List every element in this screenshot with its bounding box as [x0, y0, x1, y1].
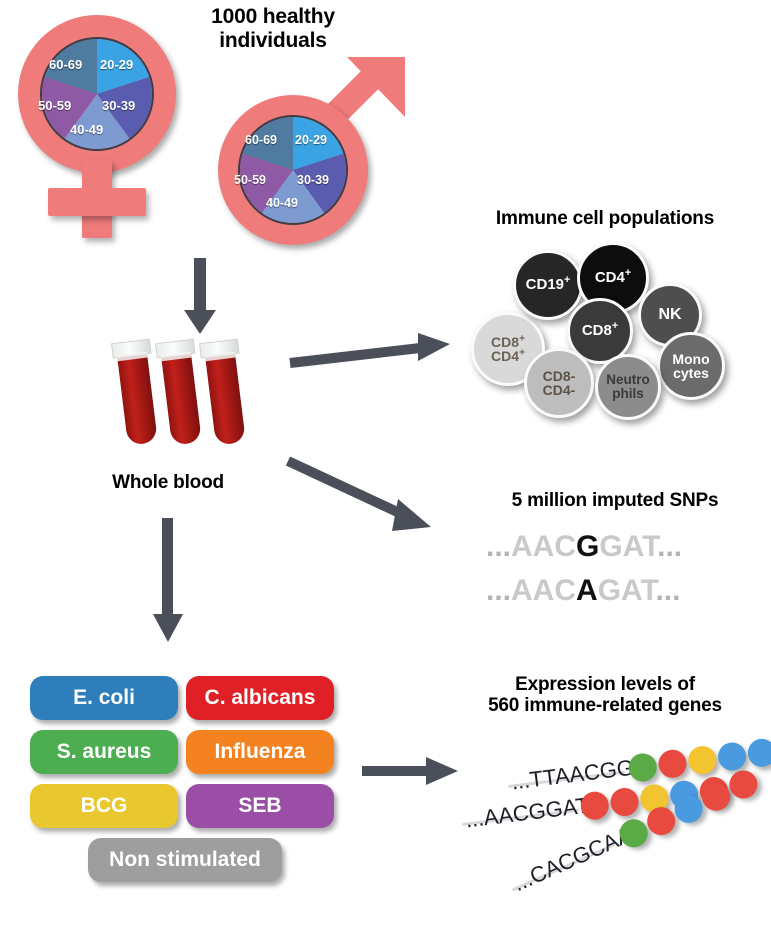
snp-row-2-variant: A — [576, 574, 598, 607]
expression-heading-line2: 560 immune-related genes — [440, 695, 770, 716]
male-pie-label-30-39: 30-39 — [297, 173, 329, 187]
snp-sequences: ...AACGGAT... ...AACAGAT... — [486, 530, 756, 625]
whole-blood-tubes — [108, 335, 263, 455]
stimulus-label-bcg: BCG — [81, 794, 128, 818]
dna-dot-1-2 — [657, 748, 688, 779]
cell-label-nk: NK — [658, 307, 681, 323]
stimulus-label-e-coli: E. coli — [73, 686, 135, 710]
female-pie-label-40-49: 40-49 — [70, 122, 103, 137]
snp-row-1-variant: G — [576, 530, 599, 563]
dna-dot-1-3 — [687, 745, 718, 776]
stimulus-c-albicans[interactable]: C. albicans — [186, 676, 334, 720]
cell-cd19p: CD19+ — [513, 250, 583, 320]
male-pie-label-60-69: 60-69 — [245, 133, 277, 147]
male-pie-label-50-59: 50-59 — [234, 173, 266, 187]
arrow-blood-to-immune — [290, 330, 465, 380]
snps-heading: 5 million imputed SNPs — [470, 490, 760, 511]
cell-cd8n-cd4n: CD8-CD4- — [524, 348, 594, 418]
snp-row-2-lead: ... — [486, 574, 511, 607]
blood-tube-glyphs — [108, 335, 263, 455]
figure-canvas: 1000 healthy individuals 20-29 30-39 40-… — [0, 0, 771, 922]
expression-heading: Expression levels of 560 immune-related … — [440, 674, 770, 717]
cell-neutrophils: Neutrophils — [595, 354, 661, 420]
cell-label-cd8n-cd4n: CD8-CD4- — [543, 369, 576, 398]
stimulus-label-non-stimulated: Non stimulated — [109, 848, 261, 872]
stimulus-label-c-albicans: C. albicans — [205, 686, 316, 710]
stimulus-label-s-aureus: S. aureus — [57, 740, 152, 764]
cell-label-monocytes: Monocytes — [672, 352, 709, 381]
stimulus-label-seb: SEB — [238, 794, 281, 818]
dna-dot-1-4 — [716, 741, 747, 772]
stimulus-label-influenza: Influenza — [214, 740, 305, 764]
snp-row-2-post: GAT — [598, 574, 656, 607]
arrow-blood-to-snps — [288, 455, 463, 550]
snp-row-2: ...AACAGAT... — [486, 574, 680, 608]
cell-label-neutrophils: Neutrophils — [606, 373, 650, 401]
arrow-blood-to-stimuli — [148, 518, 188, 644]
stimulus-influenza[interactable]: Influenza — [186, 730, 334, 774]
snp-row-2-trail: ... — [655, 574, 680, 607]
cohort-title-line2: individuals — [178, 29, 368, 53]
snp-row-1-lead: ... — [486, 530, 511, 563]
cell-monocytes: Monocytes — [657, 332, 725, 400]
immune-heading: Immune cell populations — [450, 208, 760, 229]
snp-row-1-post: GAT — [599, 530, 657, 563]
snp-row-1: ...AACGGAT... — [486, 530, 682, 564]
cell-label-cd8p: CD8+ — [582, 323, 618, 338]
snp-row-2-pre: AAC — [511, 574, 576, 607]
stimulus-seb[interactable]: SEB — [186, 784, 334, 828]
stimulus-bcg[interactable]: BCG — [30, 784, 178, 828]
cohort-title: 1000 healthy individuals — [178, 5, 368, 52]
female-pie-label-50-59: 50-59 — [38, 98, 71, 113]
immune-cell-cluster: CD8+CD4+ CD19+ CD4+ NK CD8+ Monocytes CD… — [455, 240, 755, 420]
stimulus-s-aureus[interactable]: S. aureus — [30, 730, 178, 774]
dna-strands: ...TTAACGG ...AACGGAT ...CACGCAA — [420, 728, 771, 922]
female-pie-label-20-29: 20-29 — [100, 57, 133, 72]
whole-blood-label: Whole blood — [78, 472, 258, 493]
male-pie-label-20-29: 20-29 — [295, 133, 327, 147]
snp-row-1-trail: ... — [657, 530, 682, 563]
female-gender-symbol: 20-29 30-39 40-49 50-59 60-69 — [10, 10, 185, 235]
cohort-title-line1: 1000 healthy — [178, 5, 368, 29]
stimuli-panel: E. coli C. albicans S. aureus Influenza … — [30, 676, 340, 891]
expression-heading-line1: Expression levels of — [440, 674, 770, 695]
arrow-cohort-to-blood — [180, 258, 220, 336]
dna-dot-1-5 — [746, 737, 771, 768]
female-cross — [48, 188, 146, 216]
dna-dot-2-2 — [609, 786, 640, 817]
dna-seq-2: ...AACGGAT — [464, 792, 591, 833]
cell-label-cd19p: CD19+ — [526, 277, 571, 292]
male-pie-label-40-49: 40-49 — [266, 196, 298, 210]
female-pie-label-60-69: 60-69 — [49, 57, 82, 72]
cell-label-cd8p-cd4p: CD8+CD4+ — [491, 335, 525, 364]
female-pie-label-30-39: 30-39 — [102, 98, 135, 113]
stimulus-non-stimulated[interactable]: Non stimulated — [88, 838, 282, 882]
male-gender-symbol: 20-29 30-39 40-49 50-59 60-69 — [205, 55, 420, 255]
snp-row-1-pre: AAC — [511, 530, 576, 563]
cell-label-cd4p: CD4+ — [595, 270, 631, 285]
stimulus-e-coli[interactable]: E. coli — [30, 676, 178, 720]
